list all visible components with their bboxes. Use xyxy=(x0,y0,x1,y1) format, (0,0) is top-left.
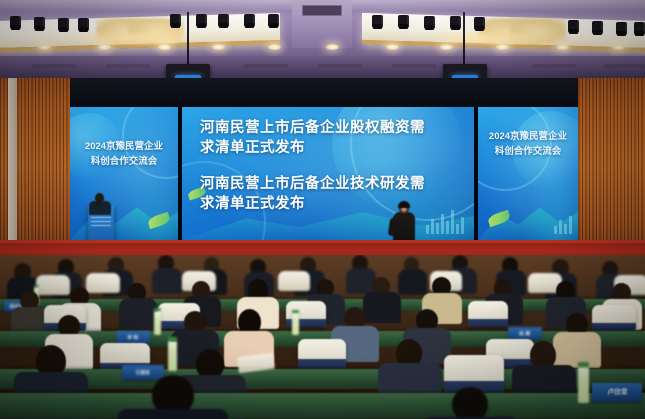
screen-text-line-1: 河南民营上市后备企业股权融资需 xyxy=(200,118,425,138)
podium-banner-text xyxy=(91,213,111,227)
stage-light xyxy=(10,16,21,29)
stage-light xyxy=(58,18,69,31)
water-bottle xyxy=(154,311,161,335)
screen-text-line-3: 河南民营上市后备企业技术研发需 xyxy=(200,174,425,194)
water-bottle xyxy=(292,313,299,335)
stage-light xyxy=(244,14,255,27)
audience-chair xyxy=(36,275,70,295)
stage-light xyxy=(218,14,229,27)
audience-chair xyxy=(592,305,636,331)
bottle-cap xyxy=(292,310,299,313)
wall-vent xyxy=(392,64,436,68)
ceiling-downlight xyxy=(556,44,569,50)
audience-chair xyxy=(468,301,508,327)
led-panel-right: 2024京豫民营企业 科创合作交流会 xyxy=(478,107,578,240)
left-panel-title-line2: 科创合作交流会 xyxy=(70,154,178,169)
stage-light xyxy=(170,14,181,27)
stage-light xyxy=(78,18,89,31)
nameplate: 王建国 xyxy=(122,365,164,380)
trough-glow xyxy=(60,30,200,46)
stage-light xyxy=(34,17,45,30)
audience-chair xyxy=(298,339,346,369)
ceiling-fixture-box xyxy=(302,5,342,16)
stage-light xyxy=(424,16,435,29)
audience-desk-row xyxy=(0,393,645,419)
stage-light xyxy=(634,22,645,35)
ceiling-downlight xyxy=(386,44,399,50)
stage-light xyxy=(268,14,279,27)
standing-person-hair xyxy=(398,201,410,208)
speaker-body xyxy=(89,201,111,215)
wall-pillar-left xyxy=(8,78,17,260)
led-panel-left: 2024京豫民营企业 科创合作交流会 xyxy=(70,107,178,240)
projector-mount-pole xyxy=(463,12,465,66)
right-panel-title-line2: 科创合作交流会 xyxy=(478,144,578,159)
nameplate-text: 李 明 xyxy=(128,335,139,341)
stage-light xyxy=(196,14,207,27)
wall-vent xyxy=(32,64,76,68)
wood-wall-right xyxy=(575,78,645,260)
audience-chair xyxy=(86,273,120,293)
conference-hall-photo: 2024京豫民营企业 科创合作交流会 河南民营上市后备企业股权融资需 求清单正式… xyxy=(0,0,645,419)
decor-bars xyxy=(554,212,572,234)
water-bottle xyxy=(168,341,177,371)
bottle-cap xyxy=(168,337,177,341)
ceiling-downlight xyxy=(268,44,281,50)
nameplate: 卢欣章 xyxy=(592,383,642,402)
screen-text-line-2: 求清单正式发布 xyxy=(200,138,305,158)
decor-bars xyxy=(426,208,464,234)
stage-light xyxy=(616,22,627,35)
stage-light xyxy=(398,15,409,28)
screen-bezel-top xyxy=(70,78,578,107)
wall-vent xyxy=(106,64,150,68)
stage-light xyxy=(450,16,461,29)
wall-vent xyxy=(604,64,645,68)
led-panel-center: 河南民营上市后备企业股权融资需 求清单正式发布 河南民营上市后备企业技术研发需 … xyxy=(182,107,474,240)
wall-vent xyxy=(318,64,362,68)
trough-glow xyxy=(420,30,560,46)
ceiling-downlight xyxy=(326,44,339,50)
ceiling-downlight xyxy=(440,44,453,50)
projector-mount-pole xyxy=(187,12,189,66)
wall-vent xyxy=(244,64,288,68)
ceiling-downlight xyxy=(158,44,171,50)
audience-chair xyxy=(278,271,310,291)
ceiling-downlight xyxy=(212,44,225,50)
wall-vent xyxy=(532,64,576,68)
nameplate-text: 卢欣章 xyxy=(607,390,627,396)
right-panel-title-line1: 2024京豫民营企业 xyxy=(478,129,578,144)
nameplate-text: 王建国 xyxy=(136,370,150,376)
stage-light xyxy=(568,20,579,33)
bottle-cap xyxy=(578,362,589,367)
bottle-cap xyxy=(154,308,161,311)
ceiling-downlight xyxy=(496,44,509,50)
left-panel-title-line1: 2024京豫民营企业 xyxy=(70,139,178,154)
ceiling-downlight xyxy=(612,44,625,50)
screen-text-line-4: 求清单正式发布 xyxy=(200,194,305,214)
stage-light xyxy=(474,17,485,30)
water-bottle xyxy=(578,367,589,403)
stage-light xyxy=(372,15,383,28)
standing-person-body xyxy=(393,212,415,242)
stage-light xyxy=(592,21,603,34)
ceiling-downlight xyxy=(98,44,111,50)
audience-seating: 周志华 xyxy=(0,255,645,419)
bottle-cap xyxy=(34,285,39,287)
ceiling-downlight xyxy=(38,44,51,50)
ceiling xyxy=(0,0,645,58)
nameplate-text: 赵 康 xyxy=(520,331,531,337)
